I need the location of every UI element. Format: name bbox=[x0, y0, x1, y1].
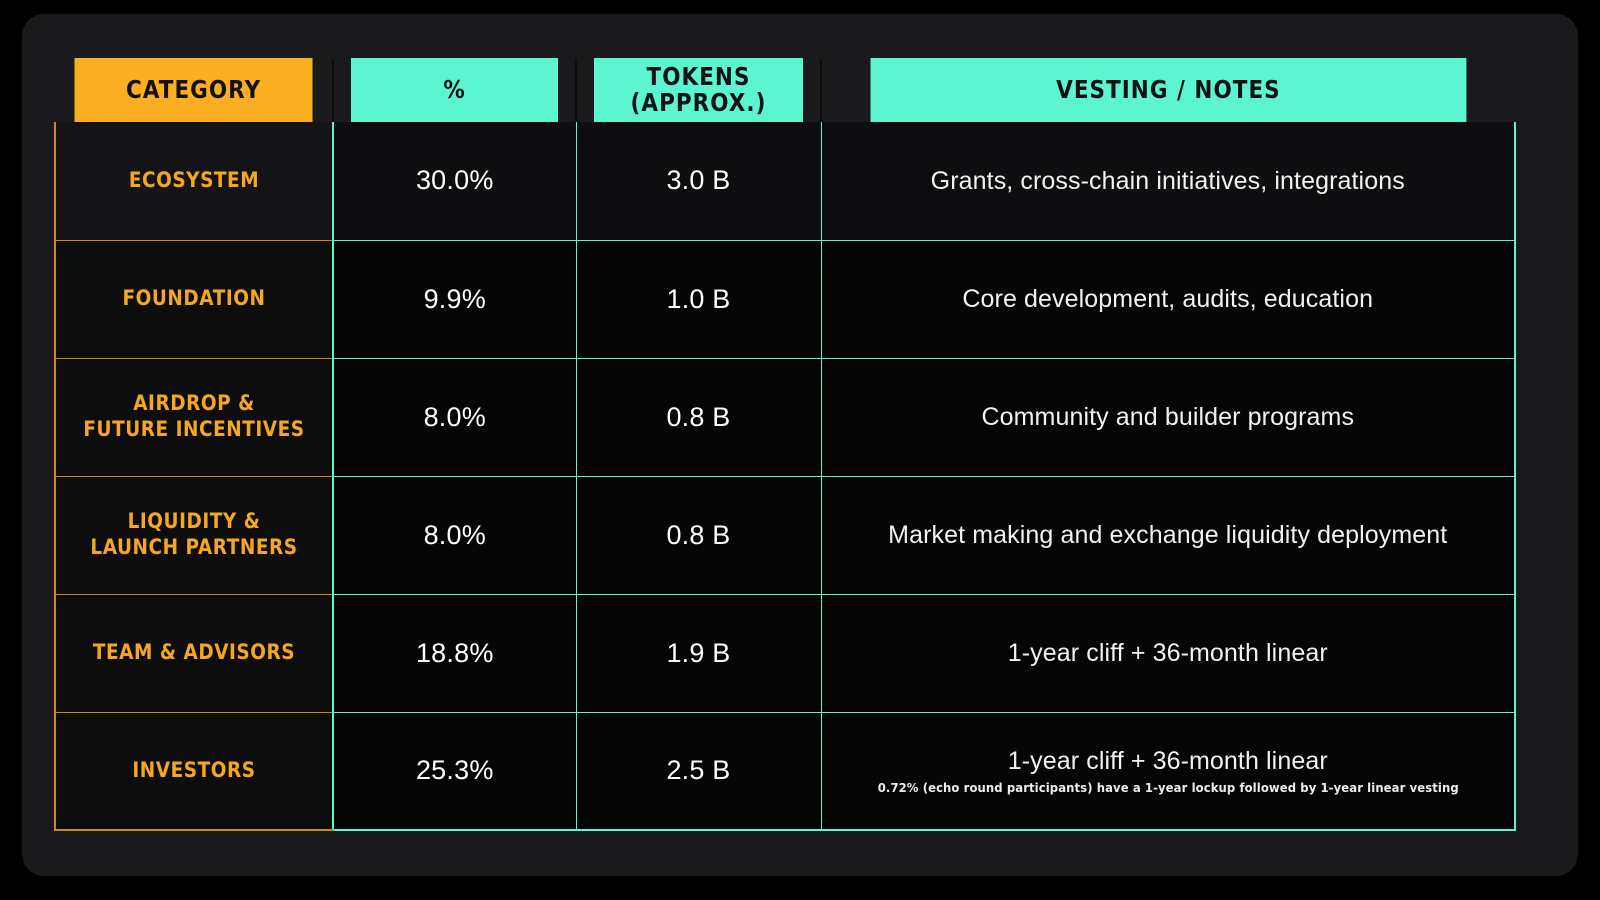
cell-percent: 25.3% bbox=[333, 712, 576, 830]
page-root: CATEGORY % TOKENS (APPROX.) VESTING / NO… bbox=[0, 0, 1600, 900]
category-label-line1: ECOSYSTEM bbox=[81, 168, 306, 194]
column-header-tokens: TOKENS (APPROX.) bbox=[593, 58, 804, 122]
notes-text: Grants, cross-chain initiatives, integra… bbox=[840, 166, 1497, 196]
category-label-line1: AIRDROP & bbox=[81, 391, 306, 417]
cell-percent: 8.0% bbox=[333, 358, 576, 476]
column-header-tokens-label-line2: (APPROX.) bbox=[601, 90, 796, 116]
table-body: ECOSYSTEM 30.0% 3.0 B Grants, cross-chai… bbox=[55, 122, 1515, 830]
column-header-category: CATEGORY bbox=[74, 58, 313, 122]
cell-category: LIQUIDITY & LAUNCH PARTNERS bbox=[55, 476, 333, 594]
cell-percent: 8.0% bbox=[333, 476, 576, 594]
cell-category: ECOSYSTEM bbox=[55, 122, 333, 240]
cell-category: TEAM & ADVISORS bbox=[55, 594, 333, 712]
table-row: AIRDROP & FUTURE INCENTIVES 8.0% 0.8 B C… bbox=[55, 358, 1515, 476]
category-label-line1: TEAM & ADVISORS bbox=[81, 640, 306, 666]
cell-percent: 18.8% bbox=[333, 594, 576, 712]
cell-category: FOUNDATION bbox=[55, 240, 333, 358]
column-header-percent: % bbox=[350, 58, 559, 122]
table-row: ECOSYSTEM 30.0% 3.0 B Grants, cross-chai… bbox=[55, 122, 1515, 240]
notes-text: Core development, audits, education bbox=[840, 284, 1497, 314]
category-label-line2: FUTURE INCENTIVES bbox=[81, 417, 306, 443]
notes-text: 1-year cliff + 36-month linear bbox=[840, 746, 1497, 776]
header-row: CATEGORY % TOKENS (APPROX.) VESTING / NO… bbox=[55, 58, 1515, 122]
category-label-line1: INVESTORS bbox=[81, 758, 306, 784]
cell-tokens: 0.8 B bbox=[576, 476, 821, 594]
cell-tokens: 0.8 B bbox=[576, 358, 821, 476]
cell-notes: 1-year cliff + 36-month linear bbox=[821, 594, 1515, 712]
notes-footnote: 0.72% (echo round participants) have a 1… bbox=[862, 780, 1473, 795]
cell-category: AIRDROP & FUTURE INCENTIVES bbox=[55, 358, 333, 476]
category-label-line2: LAUNCH PARTNERS bbox=[81, 535, 306, 561]
column-header-tokens-label-line1: TOKENS bbox=[601, 64, 796, 90]
cell-notes: Market making and exchange liquidity dep… bbox=[821, 476, 1515, 594]
cell-tokens: 3.0 B bbox=[576, 122, 821, 240]
notes-text: Community and builder programs bbox=[840, 402, 1497, 432]
column-header-category-label: CATEGORY bbox=[81, 77, 305, 103]
cell-tokens: 2.5 B bbox=[576, 712, 821, 830]
cell-percent: 9.9% bbox=[333, 240, 576, 358]
cell-category: INVESTORS bbox=[55, 712, 333, 830]
table-row: INVESTORS 25.3% 2.5 B 1-year cliff + 36-… bbox=[55, 712, 1515, 830]
cell-notes: 1-year cliff + 36-month linear 0.72% (ec… bbox=[821, 712, 1515, 830]
cell-notes: Core development, audits, education bbox=[821, 240, 1515, 358]
category-label-line1: LIQUIDITY & bbox=[81, 509, 306, 535]
allocation-table-container: CATEGORY % TOKENS (APPROX.) VESTING / NO… bbox=[54, 58, 1514, 831]
table-header: CATEGORY % TOKENS (APPROX.) VESTING / NO… bbox=[55, 58, 1515, 122]
table-row: TEAM & ADVISORS 18.8% 1.9 B 1-year cliff… bbox=[55, 594, 1515, 712]
cell-tokens: 1.0 B bbox=[576, 240, 821, 358]
category-label-line1: FOUNDATION bbox=[81, 286, 306, 312]
cell-tokens: 1.9 B bbox=[576, 594, 821, 712]
table-row: LIQUIDITY & LAUNCH PARTNERS 8.0% 0.8 B M… bbox=[55, 476, 1515, 594]
column-header-notes-label: VESTING / NOTES bbox=[877, 77, 1459, 103]
cell-notes: Grants, cross-chain initiatives, integra… bbox=[821, 122, 1515, 240]
token-allocation-table: CATEGORY % TOKENS (APPROX.) VESTING / NO… bbox=[54, 58, 1516, 831]
notes-text: Market making and exchange liquidity dep… bbox=[840, 520, 1497, 550]
table-row: FOUNDATION 9.9% 1.0 B Core development, … bbox=[55, 240, 1515, 358]
cell-percent: 30.0% bbox=[333, 122, 576, 240]
column-header-percent-label: % bbox=[358, 77, 552, 103]
cell-notes: Community and builder programs bbox=[821, 358, 1515, 476]
notes-text: 1-year cliff + 36-month linear bbox=[840, 638, 1497, 668]
column-header-notes: VESTING / NOTES bbox=[870, 58, 1467, 122]
